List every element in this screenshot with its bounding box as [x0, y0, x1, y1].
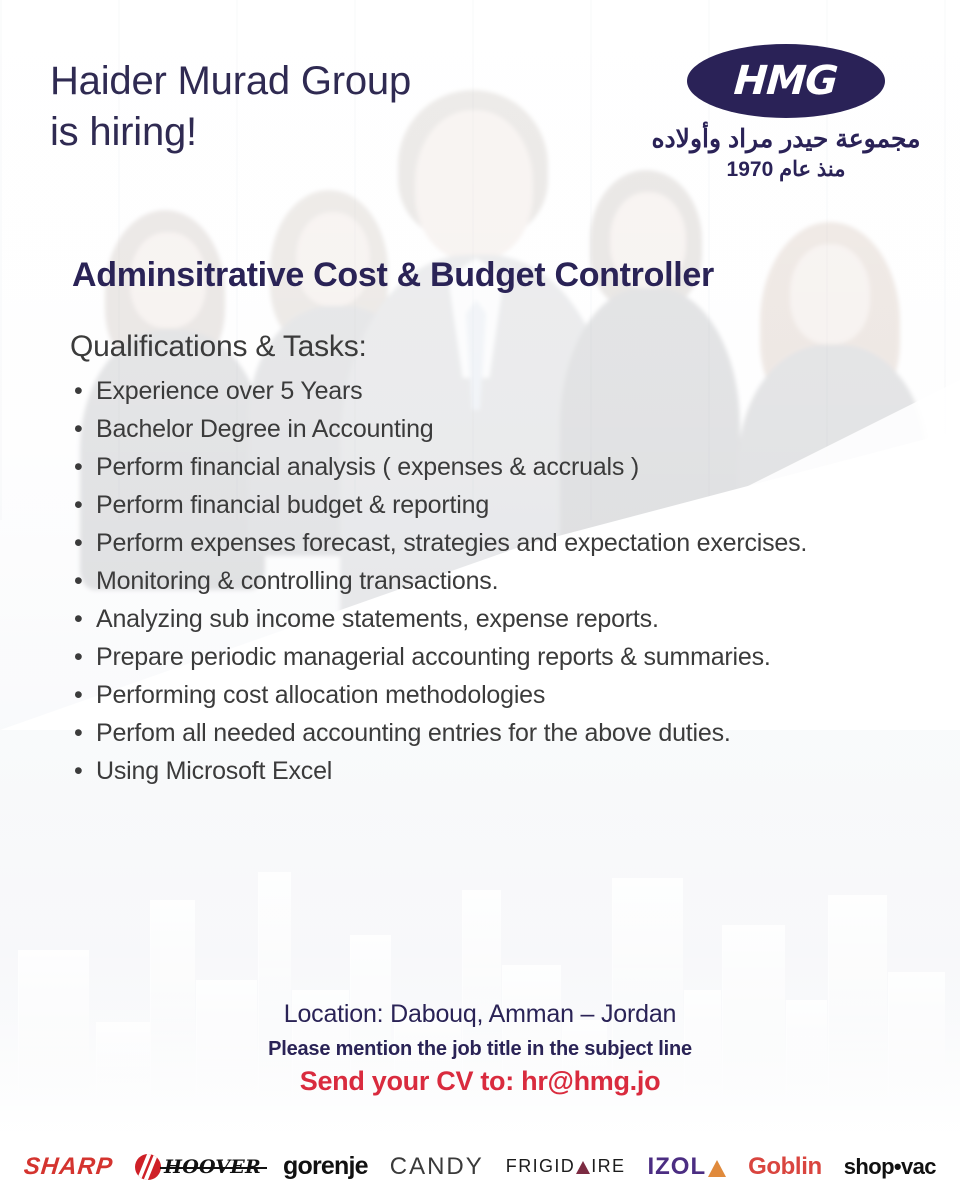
logo-ellipse: HMG: [687, 44, 885, 118]
brand-hoover: HOOVER: [135, 1154, 261, 1180]
list-item: Bachelor Degree in Accounting: [68, 410, 868, 448]
izola-wordmark: IZOL: [647, 1153, 726, 1181]
qualifications-list: Experience over 5 Years Bachelor Degree …: [68, 372, 868, 790]
gorenje-wordmark: gorenje: [283, 1152, 368, 1181]
location-text: Location: Dabouq, Amman – Jordan: [0, 1000, 960, 1029]
frigidaire-triangle-icon: [576, 1161, 590, 1174]
contact-footer: Location: Dabouq, Amman – Jordan Please …: [0, 1000, 960, 1097]
brand-candy: CANDY: [390, 1153, 484, 1181]
brand-gorenje: gorenje: [283, 1152, 368, 1181]
list-item: Using Microsoft Excel: [68, 752, 868, 790]
list-item: Prepare periodic managerial accounting r…: [68, 638, 868, 676]
hmg-logo: HMG مجموعة حيدر مراد وأولاده منذ عام 197…: [636, 44, 936, 180]
brand-shop-vac: shop•vac: [844, 1154, 936, 1180]
goblin-wordmark: Goblin: [748, 1153, 822, 1181]
list-item: Experience over 5 Years: [68, 372, 868, 410]
cv-email-text[interactable]: Send your CV to: hr@hmg.jo: [0, 1066, 960, 1097]
hoover-circle-icon: [135, 1154, 161, 1180]
job-title: Adminsitrative Cost & Budget Controller: [72, 256, 902, 295]
logo-arabic-since: منذ عام 1970: [636, 159, 936, 180]
list-item: Perfom all needed accounting entries for…: [68, 714, 868, 752]
brand-frigidaire: FRIGID IRE: [506, 1156, 626, 1177]
logo-wordmark: HMG: [733, 58, 839, 104]
frigidaire-wordmark: FRIGID IRE: [506, 1156, 626, 1177]
brand-izola: IZOL: [647, 1153, 726, 1181]
list-item: Monitoring & controlling transactions.: [68, 562, 868, 600]
brand-sharp: SHARP: [24, 1153, 113, 1181]
list-item: Analyzing sub income statements, expense…: [68, 600, 868, 638]
logo-arabic-name: مجموعة حيدر مراد وأولاده: [636, 127, 936, 152]
poster-content: Haider Murad Group is hiring! HMG مجموعة…: [0, 0, 960, 1200]
list-item: Performing cost allocation methodologies: [68, 676, 868, 714]
list-item: Perform financial analysis ( expenses & …: [68, 448, 868, 486]
candy-wordmark: CANDY: [390, 1153, 484, 1181]
brand-goblin: Goblin: [748, 1153, 822, 1181]
subject-line-note: Please mention the job title in the subj…: [0, 1038, 960, 1061]
izola-triangle-icon: [708, 1160, 726, 1177]
hoover-wordmark: HOOVER: [164, 1156, 261, 1178]
headline-line-1: Haider Murad Group: [50, 56, 510, 107]
frigidaire-part-b: IRE: [591, 1156, 625, 1177]
list-item: Perform expenses forecast, strategies an…: [68, 524, 868, 562]
headline-line-2: is hiring!: [50, 107, 510, 158]
izola-text: IZOL: [647, 1153, 706, 1181]
frigidaire-part-a: FRIGID: [506, 1156, 575, 1177]
sharp-wordmark: SHARP: [23, 1153, 115, 1181]
page-title: Haider Murad Group is hiring!: [50, 56, 510, 158]
qualifications-heading: Qualifications & Tasks:: [70, 330, 367, 364]
list-item: Perform financial budget & reporting: [68, 486, 868, 524]
job-poster: Haider Murad Group is hiring! HMG مجموعة…: [0, 0, 960, 1200]
brand-logo-strip: SHARP HOOVER gorenje CANDY FRIGID IRE IZ…: [0, 1133, 960, 1200]
shopvac-wordmark: shop•vac: [844, 1154, 936, 1180]
